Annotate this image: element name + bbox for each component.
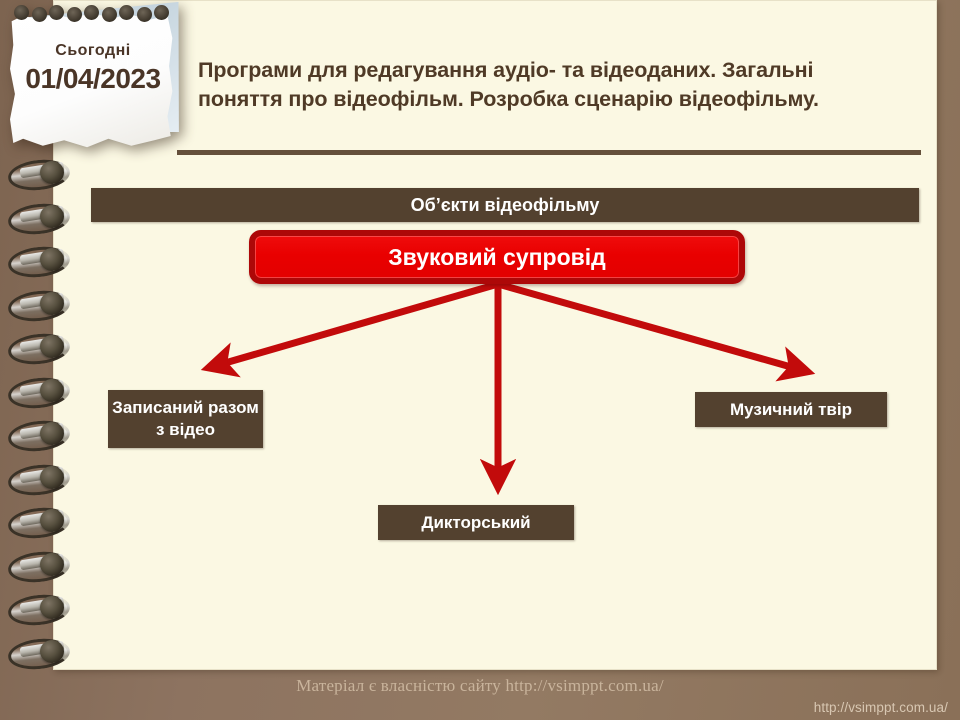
diagram-root-node: Звуковий супровід [249, 230, 745, 284]
arrow-to-left [225, 284, 498, 363]
note-punch-hole [14, 5, 29, 20]
footer-url-watermark: http://vsimppt.com.ua/ [814, 700, 948, 715]
diagram-arrows [53, 0, 937, 670]
footer-credit: Матеріал є власністю сайту http://vsimpp… [0, 676, 960, 696]
diagram: Об’єкти відеофільму Звуковий супровід За… [53, 0, 937, 670]
slide-canvas: Сьогодні 01/04/2023 Програми для редагув… [0, 0, 960, 720]
note-punch-hole [32, 7, 47, 22]
arrow-to-right [498, 284, 791, 367]
